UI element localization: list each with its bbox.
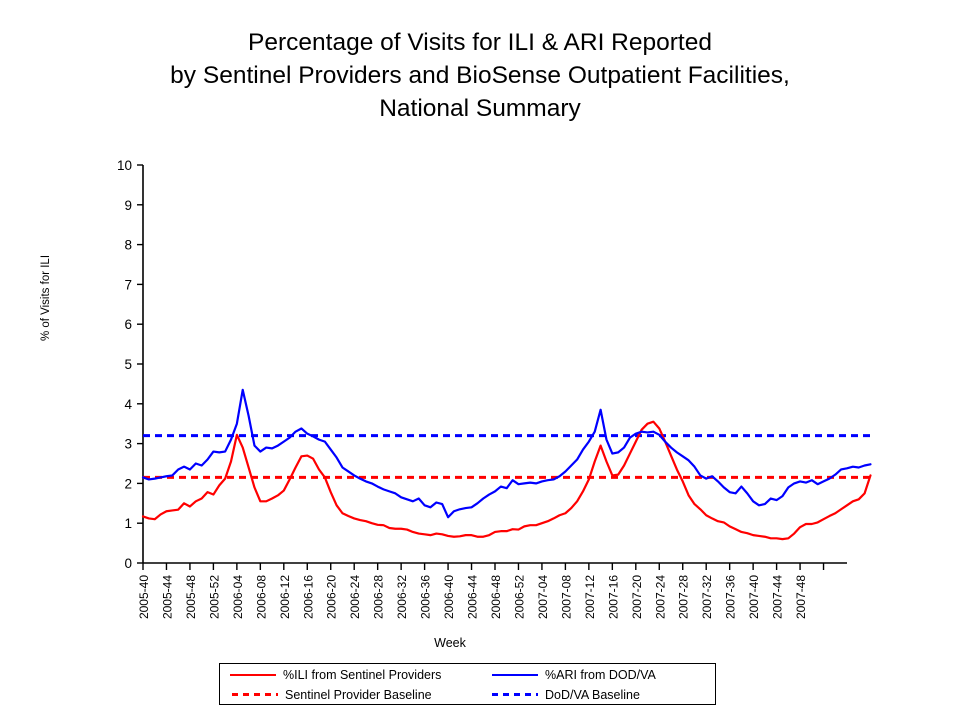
y-tick-label: 3 [124,437,132,452]
x-tick-label: 2007-36 [724,575,738,619]
x-tick-label: 2005-40 [137,575,151,619]
x-tick-label: 2006-08 [254,575,268,619]
x-tick-label: 2007-44 [771,575,785,619]
legend-label-ili: %ILI from Sentinel Providers [283,668,441,682]
y-axis-label: % of Visits for ILI [40,218,52,378]
x-tick-label: 2007-04 [536,575,550,619]
x-tick-label: 2006-28 [372,575,386,619]
y-tick-label: 10 [117,158,132,173]
x-tick-label: 2006-48 [489,575,503,619]
x-tick-label: 2007-32 [700,575,714,619]
plot-svg: 0123456789102005-402005-442005-482005-52… [0,0,960,660]
y-tick-label: 6 [124,317,132,332]
y-tick-label: 0 [124,556,132,571]
legend-swatch-dodva-baseline-icon [492,689,538,701]
legend-item-ari: %ARI from DOD/VA [492,664,656,685]
y-tick-label: 7 [124,277,132,292]
series-line-ari [143,390,870,517]
x-tick-label: 2006-20 [325,575,339,619]
x-tick-label: 2006-44 [466,575,480,619]
x-tick-label: 2007-28 [677,575,691,619]
legend-label-ari: %ARI from DOD/VA [545,668,656,682]
chart-figure: Percentage of Visits for ILI & ARI Repor… [0,0,960,720]
legend-swatch-sentinel-baseline-icon [232,689,278,701]
x-tick-label: 2006-16 [301,575,315,619]
x-tick-label: 2006-40 [442,575,456,619]
x-tick-label: 2006-52 [512,575,526,619]
y-tick-label: 2 [124,476,132,491]
x-tick-label: 2005-52 [207,575,221,619]
x-tick-label: 2006-36 [419,575,433,619]
x-tick-label: 2007-16 [606,575,620,619]
x-tick-label: 2005-48 [184,575,198,619]
y-tick-label: 1 [124,516,132,531]
legend-swatch-ari-line-icon [492,669,538,681]
x-tick-label: 2006-24 [348,575,362,619]
x-tick-label: 2007-48 [794,575,808,619]
x-tick-label: 2006-12 [278,575,292,619]
x-tick-label: 2007-24 [653,575,667,619]
legend-swatch-ili-line-icon [230,669,276,681]
y-tick-label: 5 [124,357,132,372]
y-tick-label: 4 [124,397,132,412]
x-axis-label: Week [380,636,520,650]
chart-legend: %ILI from Sentinel Providers %ARI from D… [219,663,716,705]
legend-row-baselines: Sentinel Provider Baseline DoD/VA Baseli… [220,684,717,705]
legend-row-solid: %ILI from Sentinel Providers %ARI from D… [220,664,717,685]
plot-area: 0123456789102005-402005-442005-482005-52… [0,0,960,720]
legend-label-sentinel-baseline: Sentinel Provider Baseline [285,688,432,702]
legend-item-sentinel-baseline: Sentinel Provider Baseline [232,684,432,705]
legend-item-ili: %ILI from Sentinel Providers [230,664,441,685]
x-tick-label: 2007-40 [747,575,761,619]
legend-item-dodva-baseline: DoD/VA Baseline [492,684,640,705]
legend-label-dodva-baseline: DoD/VA Baseline [545,688,640,702]
x-tick-label: 2006-04 [231,575,245,619]
x-tick-label: 2007-08 [559,575,573,619]
x-tick-label: 2006-32 [395,575,409,619]
x-tick-label: 2005-44 [160,575,174,619]
y-tick-label: 9 [124,198,132,213]
y-tick-label: 8 [124,238,132,253]
x-tick-label: 2007-12 [583,575,597,619]
x-tick-label: 2007-20 [630,575,644,619]
